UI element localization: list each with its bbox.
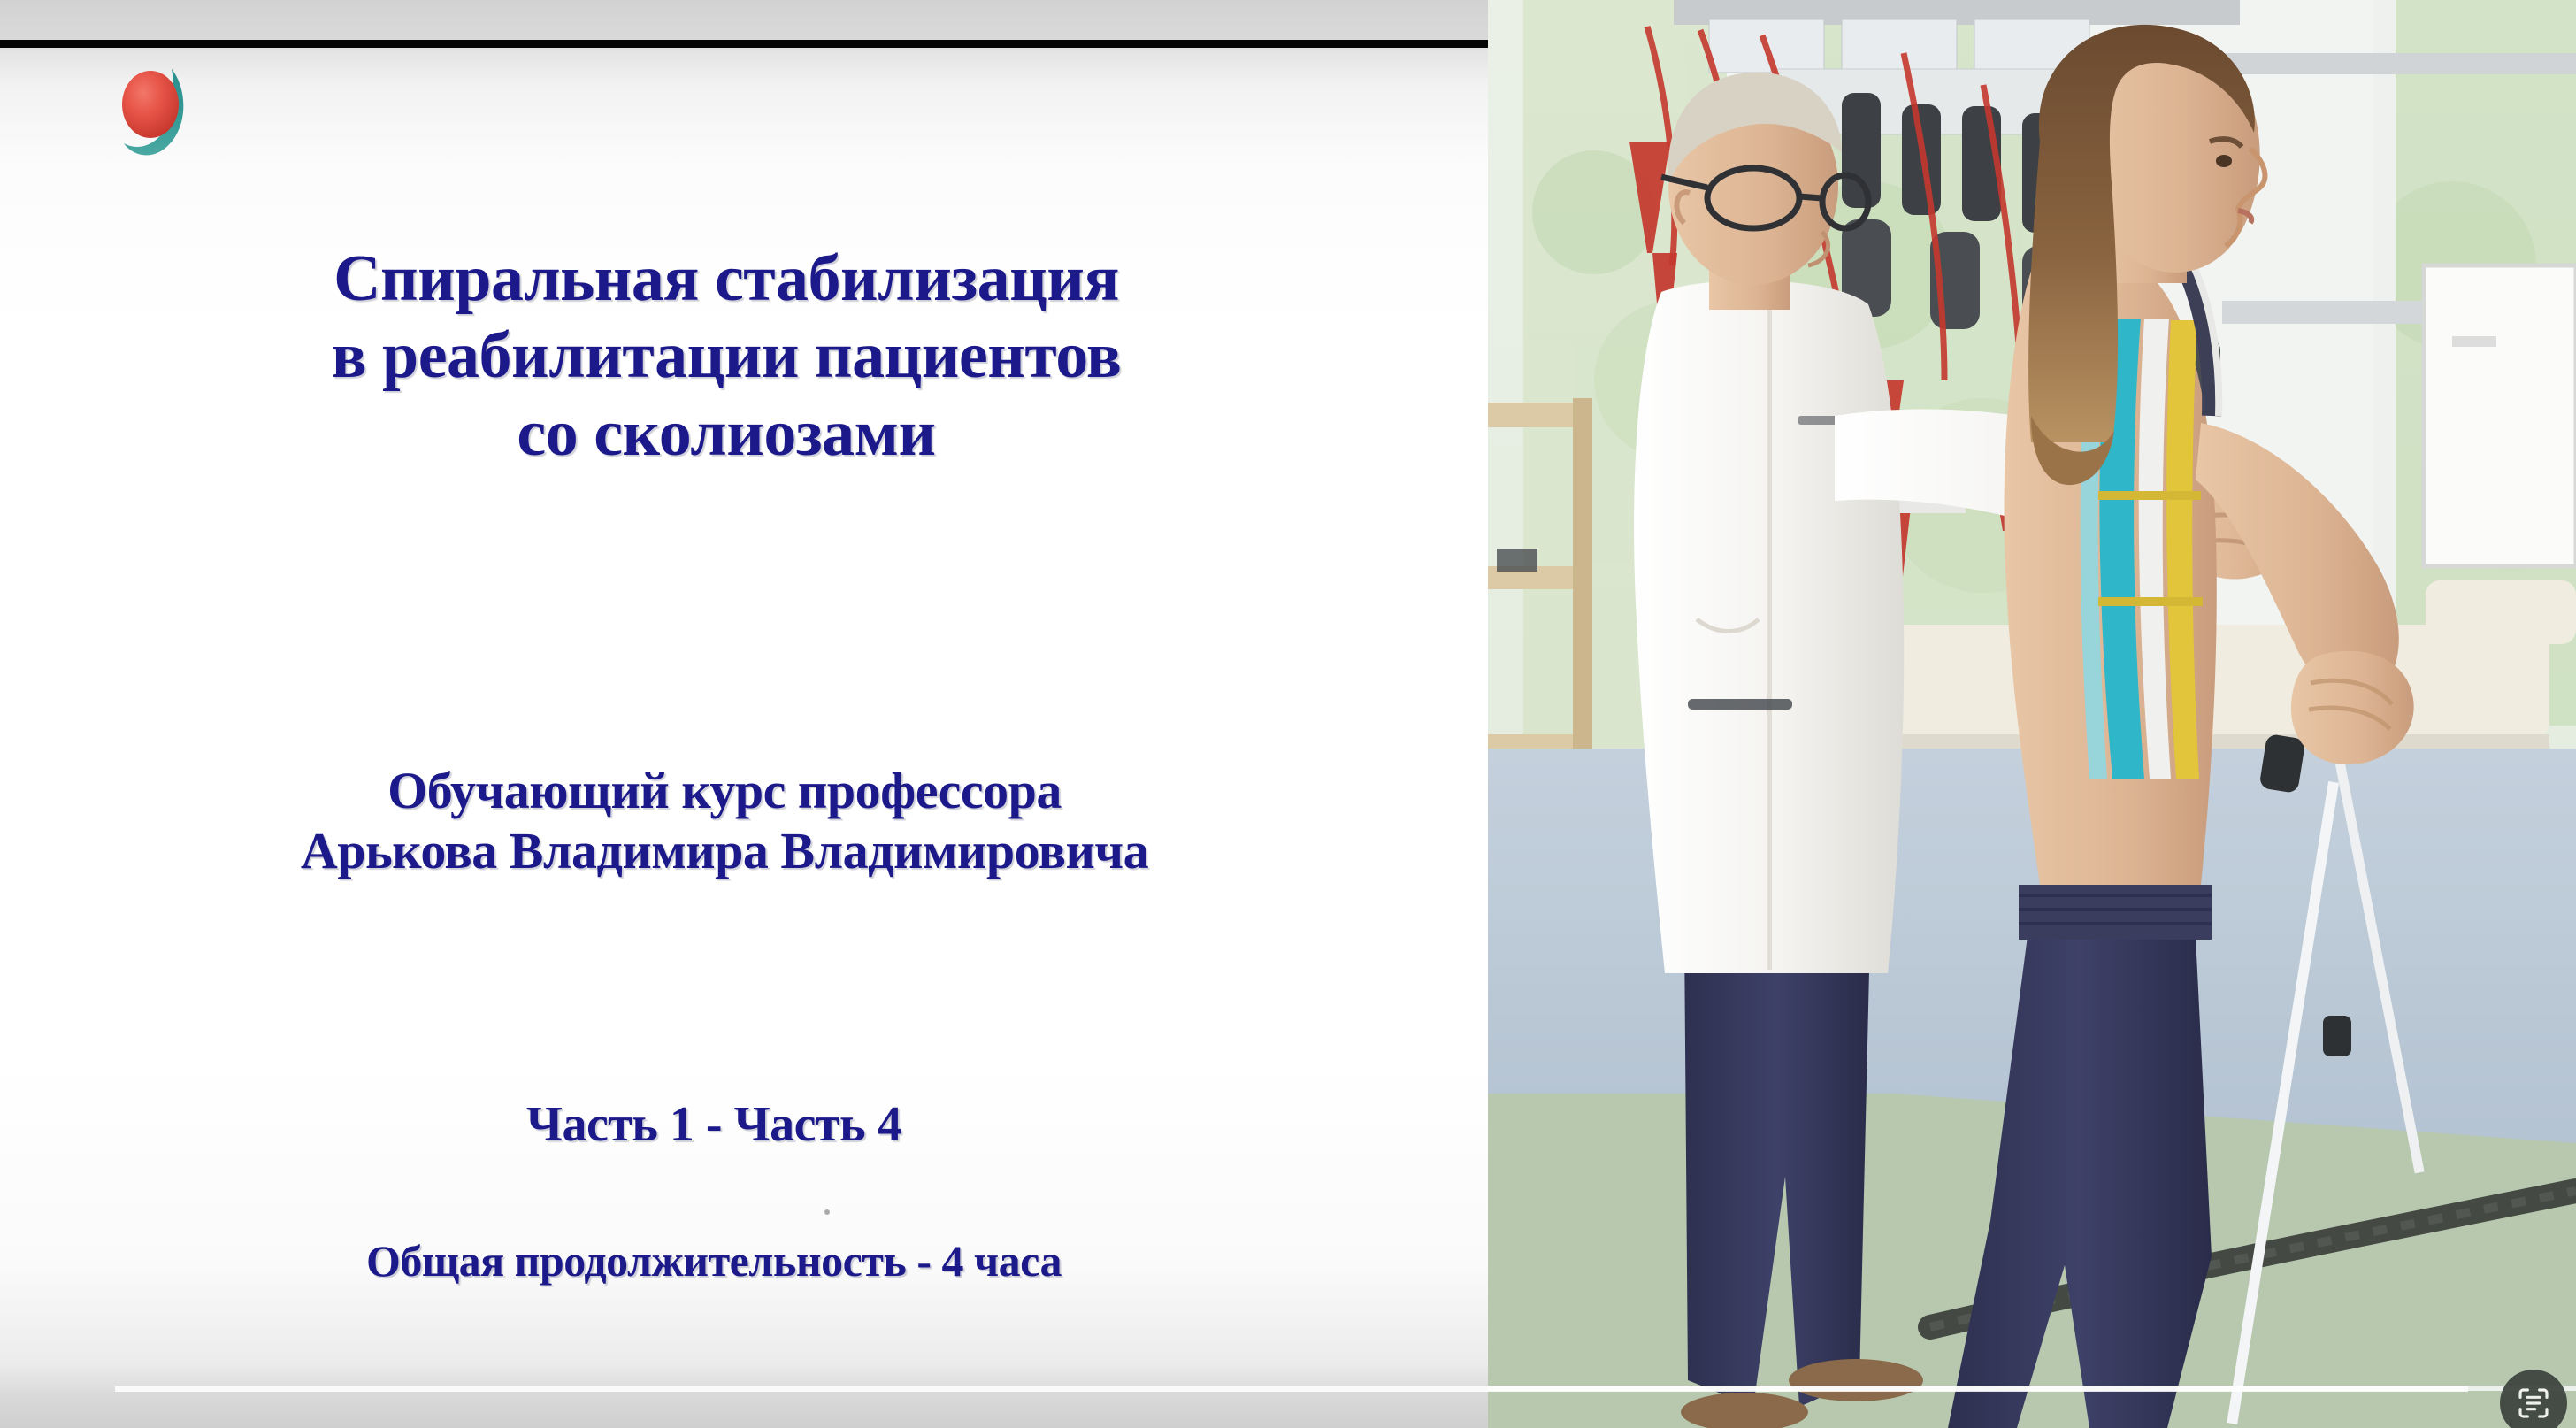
stray-dot-artifact xyxy=(824,1209,830,1215)
presentation-slide: Спиральная стабилизация в реабилитации п… xyxy=(0,0,1488,1428)
course-duration-label: Общая продолжительность - 4 часа xyxy=(0,1235,1458,1287)
screenshot-root: Спиральная стабилизация в реабилитации п… xyxy=(0,0,2576,1428)
slide-top-band xyxy=(0,0,1488,42)
title-line-1: Спиральная стабилизация xyxy=(0,241,1470,318)
page-title: Спиральная стабилизация в реабилитации п… xyxy=(0,241,1470,472)
text-scan-button[interactable] xyxy=(2500,1370,2567,1428)
clinic-logo xyxy=(113,64,212,163)
clinic-rehabilitation-photo xyxy=(1488,0,2576,1428)
course-line-1: Обучающий курс профессора xyxy=(0,761,1468,821)
whiteboard xyxy=(2424,265,2576,566)
course-line-2: Арькова Владимира Владимировича xyxy=(0,821,1468,881)
text-scan-icon xyxy=(2516,1386,2551,1421)
slide-title-rule xyxy=(0,40,1488,48)
title-line-3: со сколиозами xyxy=(0,395,1470,472)
course-author-block: Обучающий курс профессора Арькова Владим… xyxy=(0,761,1468,882)
title-line-2: в реабилитации пациентов xyxy=(0,318,1470,395)
logo-sphere-shape xyxy=(122,71,179,138)
bottom-hairline-rule xyxy=(115,1386,2468,1392)
course-parts-label: Часть 1 - Часть 4 xyxy=(0,1095,1458,1154)
